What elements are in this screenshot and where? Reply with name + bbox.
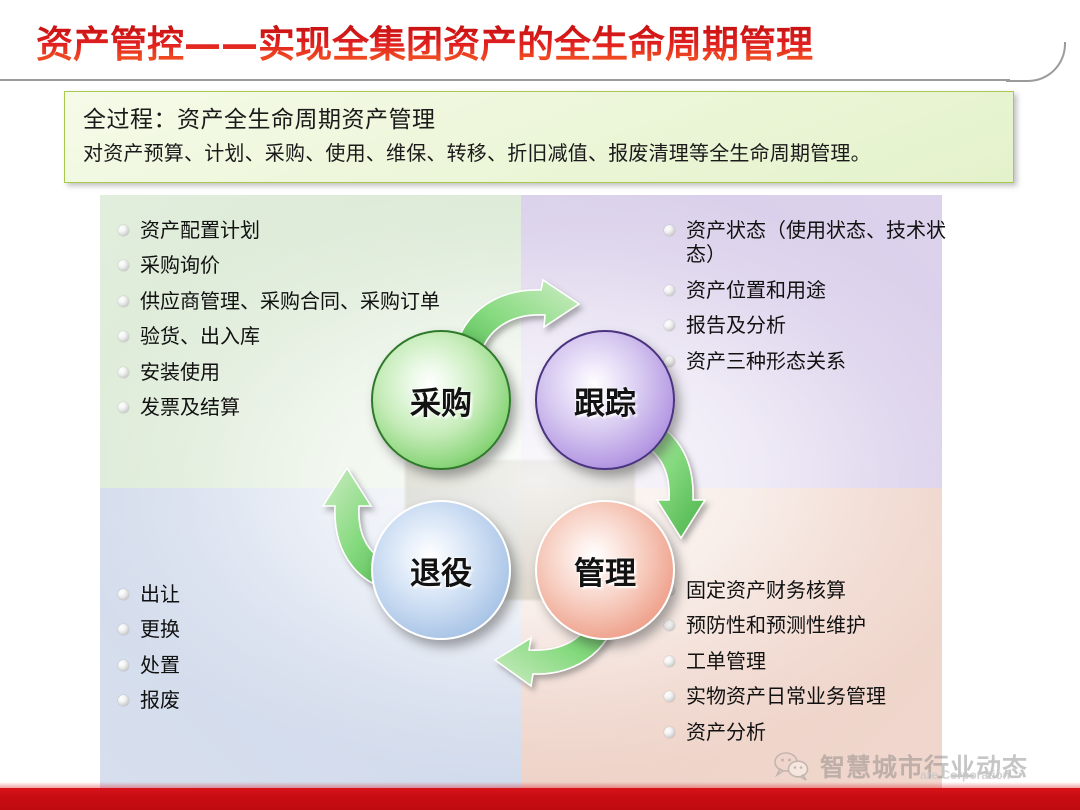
list-item: 资产位置和用途 [664,278,964,302]
bullet-dot-icon [118,296,129,307]
list-item-label: 资产状态（使用状态、技术状态） [686,218,964,267]
bullet-dot-icon [118,331,129,342]
asset-lifecycle-cycle: 采购 跟踪 管理 退役 [355,300,715,690]
list-item-label: 资产位置和用途 [686,278,826,302]
wechat-icon [772,751,812,781]
list-item-label: 报废 [140,688,180,712]
bullet-dot-icon [118,660,129,671]
ghost-corporation-text: are Corporation [920,768,1010,782]
list-retirement: 出让 更换 处置 报废 [118,582,180,724]
bullet-dot-icon [118,402,129,413]
list-item-label: 处置 [140,653,180,677]
title-area: 资产管控——实现全集团资产的全生命周期管理 [0,0,1080,82]
bottom-bar [0,788,1080,810]
list-item-label: 资产配置计划 [140,218,260,242]
list-item-label: 采购询价 [140,253,220,277]
list-item-label: 更换 [140,617,180,641]
page-title: 资产管控——实现全集团资产的全生命周期管理 [36,14,813,68]
list-item-label: 出让 [140,582,180,606]
bullet-dot-icon [118,367,129,378]
bullet-dot-icon [664,225,675,236]
bullet-dot-icon [664,285,675,296]
sphere-tracking[interactable]: 跟踪 [535,330,675,470]
list-item-label: 发票及结算 [140,395,240,419]
bullet-dot-icon [118,260,129,271]
list-item: 资产分析 [664,720,886,744]
subtitle-box: 全过程：资产全生命周期资产管理 对资产预算、计划、采购、使用、维保、转移、折旧减… [64,91,1014,183]
list-item: 报废 [118,688,180,712]
subtitle-heading: 全过程：资产全生命周期资产管理 [83,106,995,135]
bullet-dot-icon [118,225,129,236]
list-item: 更换 [118,617,180,641]
list-item-label: 验货、出入库 [140,324,260,348]
watermark: 智慧城市行业动态 [772,745,1062,787]
sphere-label: 采购 [410,378,472,423]
subtitle-description: 对资产预算、计划、采购、使用、维保、转移、折旧减值、报废清理等全生命周期管理。 [83,140,995,167]
bullet-dot-icon [664,691,675,702]
title-underline-curve [1006,42,1066,82]
sphere-label: 退役 [410,548,472,593]
list-item: 资产状态（使用状态、技术状态） [664,218,964,267]
list-item: 处置 [118,653,180,677]
sphere-retirement[interactable]: 退役 [371,500,511,640]
list-item: 采购询价 [118,253,440,277]
bullet-dot-icon [118,695,129,706]
sphere-label: 管理 [574,548,636,593]
list-item-label: 安装使用 [140,360,220,384]
list-item-label: 实物资产日常业务管理 [686,684,886,708]
list-item: 出让 [118,582,180,606]
sphere-label: 跟踪 [574,378,636,423]
bullet-dot-icon [118,624,129,635]
bullet-dot-icon [118,589,129,600]
list-item: 资产配置计划 [118,218,440,242]
title-underline [0,79,1010,81]
bullet-dot-icon [664,727,675,738]
sphere-procurement[interactable]: 采购 [371,330,511,470]
sphere-management[interactable]: 管理 [535,500,675,640]
list-item-label: 资产分析 [686,720,766,744]
